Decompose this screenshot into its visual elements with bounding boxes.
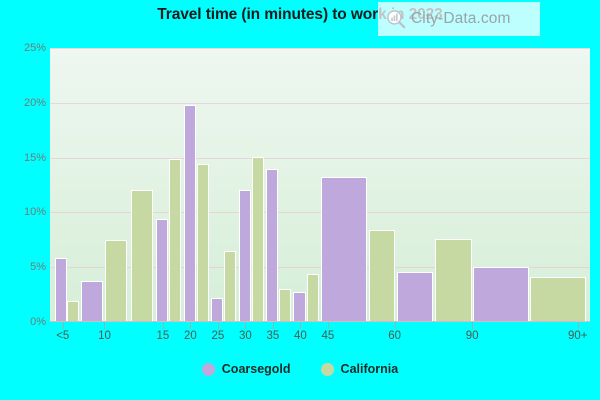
- bar-coarsegold-30[interactable]: [239, 190, 251, 322]
- x-axis-label: 45: [321, 330, 334, 342]
- bar-coarsegold-60[interactable]: [397, 272, 434, 322]
- bar-california-40[interactable]: [307, 274, 319, 322]
- legend-label: Coarsegold: [222, 362, 291, 376]
- x-axis-label: <5: [56, 330, 69, 342]
- x-axis-label: 30: [239, 330, 252, 342]
- bar-california-5[interactable]: [105, 240, 127, 322]
- bar-california-10[interactable]: [131, 190, 153, 322]
- watermark-text: City-Data.com: [411, 10, 510, 28]
- x-axis-label: 90: [466, 330, 479, 342]
- x-axis-tick: [578, 322, 579, 329]
- bar-coarsegold-25[interactable]: [211, 298, 223, 322]
- x-axis-tick: [245, 322, 246, 329]
- legend-label: California: [341, 362, 399, 376]
- bar-california-60[interactable]: [435, 239, 472, 322]
- legend-item-california[interactable]: California: [321, 362, 399, 376]
- plot-area: [50, 48, 590, 322]
- x-axis-tick: [472, 322, 473, 329]
- legend-swatch-icon: [202, 363, 215, 376]
- x-axis-label: 20: [184, 330, 197, 342]
- x-axis: <51015202530354045609090+: [50, 322, 590, 352]
- x-axis-label: 40: [294, 330, 307, 342]
- magnifier-bar-chart-icon: [386, 9, 406, 29]
- watermark: City-Data.com: [378, 2, 540, 36]
- bar-coarsegold-35[interactable]: [266, 169, 278, 322]
- bar-california-35[interactable]: [279, 289, 291, 322]
- bar-coarsegold-15[interactable]: [156, 219, 168, 322]
- chart-legend: CoarsegoldCalifornia: [0, 362, 600, 376]
- x-axis-tick: [300, 322, 301, 329]
- x-axis-tick: [104, 322, 105, 329]
- y-axis-label: 25%: [2, 42, 46, 54]
- x-axis-tick: [218, 322, 219, 329]
- x-axis-tick: [63, 322, 64, 329]
- x-axis-tick: [163, 322, 164, 329]
- chart-container: Travel time (in minutes) to work in 2023…: [0, 0, 600, 400]
- bar-coarsegold-20[interactable]: [184, 105, 196, 322]
- gridline: [50, 103, 590, 104]
- y-axis-label: 20%: [2, 97, 46, 109]
- y-axis-label: 15%: [2, 152, 46, 164]
- bar-california-45[interactable]: [369, 230, 395, 322]
- bar-coarsegold-40[interactable]: [293, 292, 305, 322]
- bar-coarsegold-5[interactable]: [81, 281, 103, 322]
- x-axis-tick: [273, 322, 274, 329]
- legend-swatch-icon: [321, 363, 334, 376]
- x-axis-tick: [328, 322, 329, 329]
- bar-california-20[interactable]: [197, 164, 209, 322]
- y-axis-label: 5%: [2, 261, 46, 273]
- bar-california-30[interactable]: [252, 157, 264, 322]
- x-axis-label: 25: [211, 330, 224, 342]
- x-axis-label: 35: [266, 330, 279, 342]
- x-axis-label: 90+: [568, 330, 588, 342]
- bar-california-<5[interactable]: [67, 301, 79, 322]
- x-axis-label: 10: [98, 330, 111, 342]
- x-axis-tick: [190, 322, 191, 329]
- y-axis-label: 0%: [2, 316, 46, 328]
- bar-coarsegold-<5[interactable]: [55, 258, 67, 322]
- x-axis-label: 60: [388, 330, 401, 342]
- bar-california-15[interactable]: [169, 159, 181, 322]
- bar-california-90[interactable]: [530, 277, 585, 322]
- bar-california-25[interactable]: [224, 251, 236, 322]
- legend-item-coarsegold[interactable]: Coarsegold: [202, 362, 291, 376]
- bar-coarsegold-90[interactable]: [473, 267, 528, 322]
- gridline: [50, 48, 590, 49]
- bar-coarsegold-45[interactable]: [321, 177, 367, 322]
- x-axis-tick: [395, 322, 396, 329]
- x-axis-label: 15: [157, 330, 170, 342]
- gridline: [50, 158, 590, 159]
- y-axis-label: 10%: [2, 206, 46, 218]
